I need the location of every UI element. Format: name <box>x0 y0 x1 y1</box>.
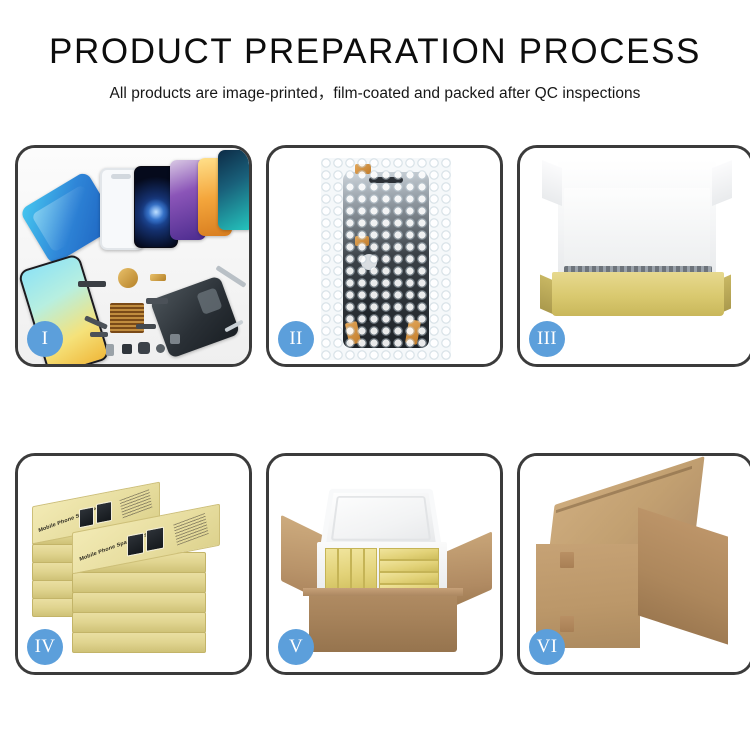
box-label-chip-front-1 <box>127 532 144 556</box>
sim-tray <box>106 344 114 356</box>
bubble-texture <box>321 158 451 360</box>
carton-side-face <box>638 507 728 644</box>
inner-box-5 <box>379 548 439 560</box>
foam-back-wall <box>564 188 710 274</box>
step-badge-2: II <box>278 321 314 357</box>
product-preparation-infographic: PRODUCT PREPARATION PROCESS All products… <box>0 0 750 750</box>
box-front-5 <box>72 632 206 653</box>
step-panel-2: II <box>266 145 503 367</box>
box-label-lines-back <box>119 489 152 519</box>
button-module <box>138 342 150 354</box>
carton-body <box>309 588 457 652</box>
step-panel-4: Mobile Phone Spare Parts Mobile Phone Sp… <box>15 453 252 675</box>
box-label-chip-back-2 <box>96 501 112 524</box>
step-panel-3: III <box>517 145 750 367</box>
step-panel-6: VI <box>517 453 750 675</box>
carton-tape-lower <box>560 616 574 632</box>
camera-module <box>122 344 132 354</box>
teal-phone <box>218 150 249 230</box>
bubble-wrap-bag <box>321 158 451 360</box>
page-subtitle: All products are image-printed，film-coat… <box>0 81 750 103</box>
step-badge-1: I <box>27 321 63 357</box>
flex-cable-b <box>90 332 108 337</box>
box-label-lines-front <box>173 513 208 546</box>
vibration-motor <box>78 281 106 287</box>
home-button <box>156 344 165 353</box>
box-front-3 <box>72 592 206 613</box>
box-label-chip-back-1 <box>79 506 94 528</box>
step-panel-5: V <box>266 453 503 675</box>
kraft-tray-body <box>552 272 724 316</box>
box-label-chip-front-2 <box>146 527 164 552</box>
inner-box-6 <box>379 560 439 572</box>
step-badge-3: III <box>529 321 565 357</box>
process-step-grid: I II <box>15 145 737 677</box>
box-front-4 <box>72 612 206 633</box>
page-title: PRODUCT PREPARATION PROCESS <box>0 34 750 71</box>
header: PRODUCT PREPARATION PROCESS All products… <box>0 34 750 103</box>
flex-cable-c <box>146 298 168 304</box>
step-badge-5: V <box>278 629 314 665</box>
box-front-2 <box>72 572 206 593</box>
step-panel-1: I <box>15 145 252 367</box>
antenna-strip <box>136 324 156 329</box>
step-badge-6: VI <box>529 629 565 665</box>
carton-tape-upper <box>560 552 574 568</box>
inner-box-7 <box>379 572 439 584</box>
gold-contact <box>150 274 166 281</box>
speaker-module <box>118 268 138 288</box>
step-badge-4: IV <box>27 629 63 665</box>
sensor-chip <box>170 334 180 344</box>
